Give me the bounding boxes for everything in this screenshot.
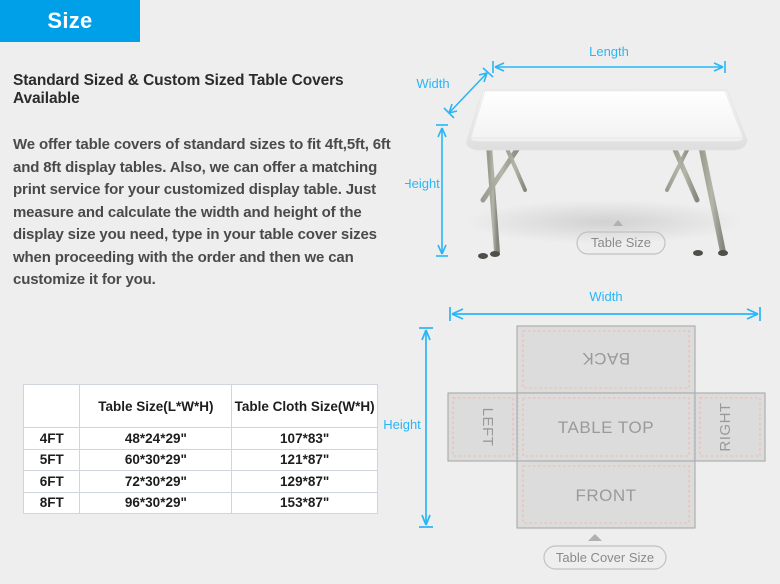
table-top-surface xyxy=(467,90,747,150)
table-cover-diagram: Width Height BACK LEFT TABLE TOP xyxy=(380,285,780,577)
table-row: 8FT 96*30*29" 153*87" xyxy=(24,492,378,514)
cell-table-size: 48*24*29" xyxy=(80,428,232,450)
intro-section: Standard Sized & Custom Sized Table Cove… xyxy=(13,72,408,292)
cover-dimension-label-height: Height xyxy=(383,417,421,432)
dimension-label-width: Width xyxy=(416,76,449,91)
cell-size-label: 6FT xyxy=(24,471,80,493)
dimension-length xyxy=(493,61,725,73)
cell-cloth-size: 107*83" xyxy=(232,428,378,450)
size-tab: Size xyxy=(0,0,140,42)
table-row: 5FT 60*30*29" 121*87" xyxy=(24,449,378,471)
intro-paragraph: We offer table covers of standard sizes … xyxy=(13,134,403,292)
size-tab-label: Size xyxy=(47,8,92,34)
table-size-caption-label: Table Size xyxy=(591,235,651,250)
cell-cloth-size: 121*87" xyxy=(232,449,378,471)
cell-table-size: 72*30*29" xyxy=(80,471,232,493)
cover-panel-left: LEFT xyxy=(448,393,518,461)
dimension-label-length: Length xyxy=(589,44,629,59)
column-header-table-size: Table Size(L*W*H) xyxy=(80,385,232,428)
cover-panel-table-top-label: TABLE TOP xyxy=(558,418,654,437)
cover-panel-table-top: TABLE TOP xyxy=(517,393,695,461)
cover-panel-right-label: RIGHT xyxy=(717,402,734,451)
cover-dimension-label-width: Width xyxy=(589,289,622,304)
table-row: 4FT 48*24*29" 107*83" xyxy=(24,428,378,450)
table-cover-size-caption-label: Table Cover Size xyxy=(556,550,654,565)
column-header-size xyxy=(24,385,80,428)
intro-heading: Standard Sized & Custom Sized Table Cove… xyxy=(13,72,408,108)
spec-table-container: Table Size(L*W*H) Table Cloth Size(W*H) … xyxy=(23,384,378,514)
spec-table-body: 4FT 48*24*29" 107*83" 5FT 60*30*29" 121*… xyxy=(24,428,378,514)
cover-panel-right: RIGHT xyxy=(695,393,765,461)
cell-cloth-size: 129*87" xyxy=(232,471,378,493)
cover-dimension-width xyxy=(450,307,760,321)
spec-table-head: Table Size(L*W*H) Table Cloth Size(W*H) xyxy=(24,385,378,428)
cell-cloth-size: 153*87" xyxy=(232,492,378,514)
table-size-diagram: Length Width Height Table Size xyxy=(405,40,780,270)
spec-table: Table Size(L*W*H) Table Cloth Size(W*H) … xyxy=(23,384,378,514)
cover-panel-left-label: LEFT xyxy=(479,408,496,447)
cell-size-label: 4FT xyxy=(24,428,80,450)
cover-panel-back: BACK xyxy=(517,326,695,393)
cover-dimension-height xyxy=(419,328,433,527)
column-header-cloth-size: Table Cloth Size(W*H) xyxy=(232,385,378,428)
cell-table-size: 96*30*29" xyxy=(80,492,232,514)
cell-size-label: 8FT xyxy=(24,492,80,514)
table-cover-size-caption: Table Cover Size xyxy=(544,534,666,569)
cover-panel-front-label: FRONT xyxy=(575,486,636,505)
dimension-label-height: Height xyxy=(405,176,440,191)
table-header-row: Table Size(L*W*H) Table Cloth Size(W*H) xyxy=(24,385,378,428)
cell-size-label: 5FT xyxy=(24,449,80,471)
cell-table-size: 60*30*29" xyxy=(80,449,232,471)
cover-panel-back-label: BACK xyxy=(582,349,630,368)
table-row: 6FT 72*30*29" 129*87" xyxy=(24,471,378,493)
cover-panel-front: FRONT xyxy=(517,461,695,528)
